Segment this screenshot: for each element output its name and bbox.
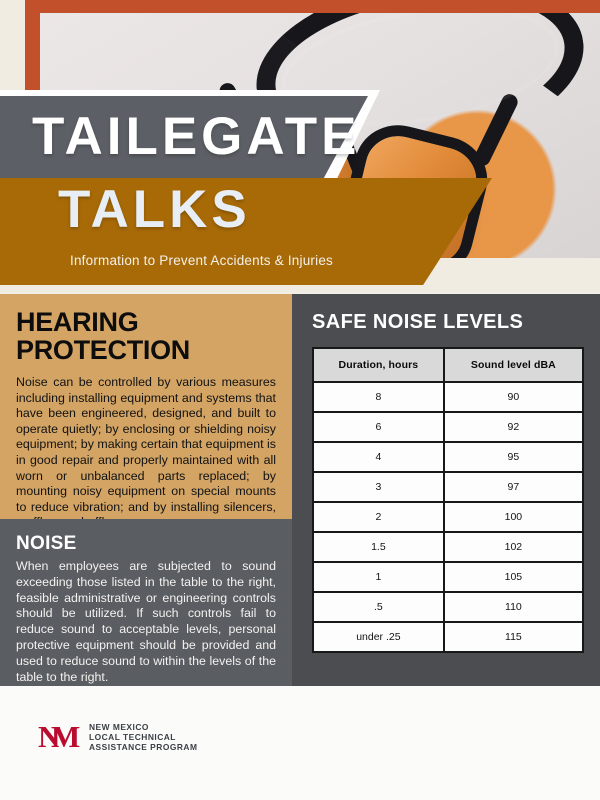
table-row: .5110 [313, 592, 583, 622]
unm-logo-line1: NEW MEXICO [89, 722, 197, 732]
table-cell: 102 [444, 532, 583, 562]
table-row: 495 [313, 442, 583, 472]
hearing-protection-body: Noise can be controlled by various measu… [16, 375, 276, 531]
poster-subtitle: Information to Prevent Accidents & Injur… [70, 253, 333, 268]
table-row: 890 [313, 382, 583, 412]
table-cell: .5 [313, 592, 444, 622]
table-row: 2100 [313, 502, 583, 532]
table-cell: 6 [313, 412, 444, 442]
poster-title-line1: TAILEGATE [32, 104, 360, 170]
table-cell: 100 [444, 502, 583, 532]
safe-noise-levels-title: SAFE NOISE LEVELS [312, 311, 584, 334]
table-cell: 4 [313, 442, 444, 472]
left-column: HEARING PROTECTION Noise can be controll… [0, 294, 292, 686]
content-area: HEARING PROTECTION Noise can be controll… [0, 294, 600, 686]
safe-noise-levels-table: Duration, hoursSound level dBA 890692495… [312, 347, 584, 653]
table-header-row: Duration, hoursSound level dBA [313, 348, 583, 382]
noise-panel: NOISE When employees are subjected to so… [0, 519, 292, 686]
table-column-header-0: Duration, hours [313, 348, 444, 382]
unm-logo-line3: ASSISTANCE PROGRAM [89, 742, 197, 752]
table-cell: under .25 [313, 622, 444, 652]
unm-letter-m: M [51, 722, 80, 752]
table-cell: 92 [444, 412, 583, 442]
table-cell: 2 [313, 502, 444, 532]
table-cell: 8 [313, 382, 444, 412]
table-row: 1.5102 [313, 532, 583, 562]
poster: TAILEGATE TALKS Information to Prevent A… [0, 0, 600, 800]
unm-logo-text: NEW MEXICO LOCAL TECHNICAL ASSISTANCE PR… [89, 722, 197, 753]
noise-body: When employees are subjected to sound ex… [16, 559, 276, 685]
table-row: 397 [313, 472, 583, 502]
table-cell: 1 [313, 562, 444, 592]
table-cell: 110 [444, 592, 583, 622]
unm-logo-line2: LOCAL TECHNICAL [89, 732, 197, 742]
table-row: under .25115 [313, 622, 583, 652]
table-cell: 1.5 [313, 532, 444, 562]
table-cell: 3 [313, 472, 444, 502]
poster-title-line2: TALKS [58, 177, 251, 243]
table-cell: 115 [444, 622, 583, 652]
footer: N M NEW MEXICO LOCAL TECHNICAL ASSISTANC… [0, 686, 600, 800]
noise-title: NOISE [16, 533, 276, 555]
unm-ltap-logo: N M NEW MEXICO LOCAL TECHNICAL ASSISTANC… [38, 722, 197, 753]
right-column: SAFE NOISE LEVELS Duration, hoursSound l… [292, 294, 600, 686]
table-row: 1105 [313, 562, 583, 592]
hearing-protection-panel: HEARING PROTECTION Noise can be controll… [0, 294, 292, 519]
hearing-protection-title: HEARING PROTECTION [16, 308, 276, 364]
table-cell: 105 [444, 562, 583, 592]
hero-section: TAILEGATE TALKS Information to Prevent A… [0, 0, 600, 292]
table-cell: 95 [444, 442, 583, 472]
unm-monogram-icon: N M [38, 722, 80, 752]
table-cell: 90 [444, 382, 583, 412]
table-row: 692 [313, 412, 583, 442]
table-column-header-1: Sound level dBA [444, 348, 583, 382]
table-cell: 97 [444, 472, 583, 502]
